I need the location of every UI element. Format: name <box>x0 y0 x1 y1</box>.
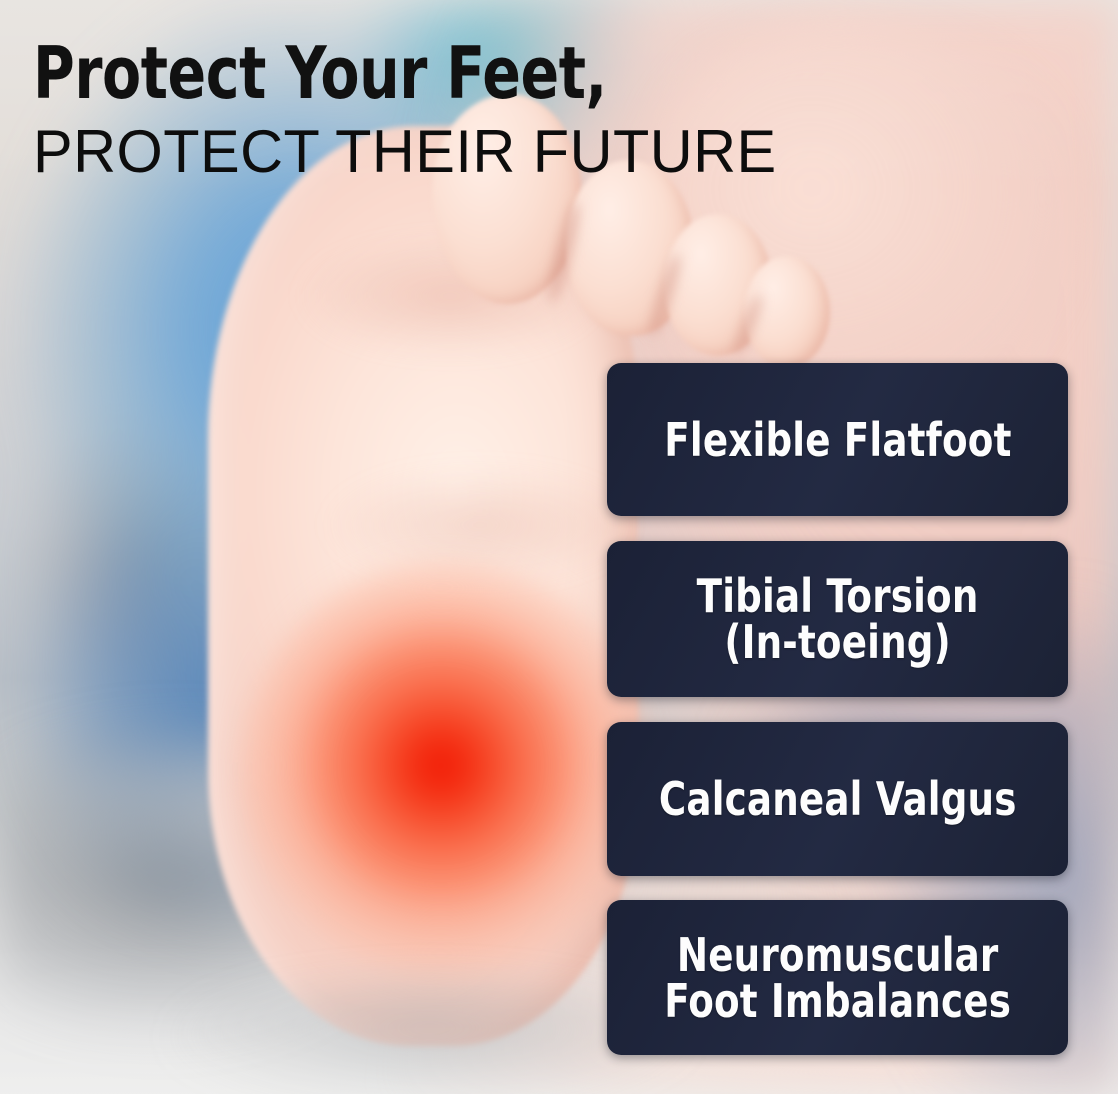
condition-card-list: Flexible Flatfoot Tibial Torsion (In-toe… <box>607 363 1068 1055</box>
condition-card-label: Neuromuscular Foot Imbalances <box>664 932 1011 1024</box>
condition-card-neuromuscular-foot-imbalances[interactable]: Neuromuscular Foot Imbalances <box>607 900 1068 1055</box>
condition-card-tibial-torsion[interactable]: Tibial Torsion (In-toeing) <box>607 541 1068 697</box>
condition-card-label: Calcaneal Valgus <box>659 776 1017 822</box>
poster-root: Protect Your Feet, PROTECT THEIR FUTURE … <box>0 0 1118 1094</box>
condition-card-calcaneal-valgus[interactable]: Calcaneal Valgus <box>607 722 1068 876</box>
condition-card-label: Tibial Torsion (In-toeing) <box>697 573 979 665</box>
headline-block: Protect Your Feet, PROTECT THEIR FUTURE <box>33 38 993 182</box>
condition-card-flexible-flatfoot[interactable]: Flexible Flatfoot <box>607 363 1068 516</box>
headline-primary: Protect Your Feet, <box>33 38 878 109</box>
condition-card-label: Flexible Flatfoot <box>664 417 1011 463</box>
headline-secondary: PROTECT THEIR FUTURE <box>33 121 983 182</box>
heel-inflammation-heat-spot <box>240 560 650 980</box>
